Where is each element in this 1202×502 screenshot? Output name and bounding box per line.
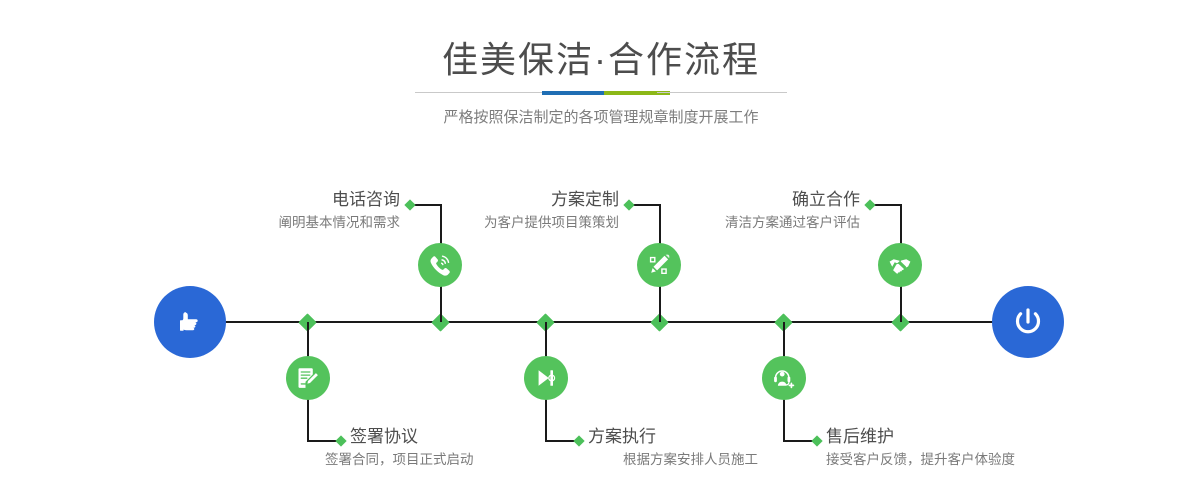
step-6-icon-circle — [878, 243, 922, 287]
step-2-title: 电话咨询 — [175, 188, 400, 212]
step-6-tip-marker — [864, 199, 875, 210]
process-flow-infographic: 佳美保洁·合作流程 严格按照保洁制定的各项管理规章制度开展工作 — [0, 0, 1202, 502]
handshake-icon — [887, 252, 913, 278]
divider-gray-left — [415, 92, 545, 93]
document-edit-icon — [295, 365, 321, 391]
step-3-title: 方案执行 — [588, 425, 838, 449]
title-divider — [415, 91, 787, 95]
step-5-icon-circle — [762, 356, 806, 400]
step-1-title: 签署协议 — [350, 425, 600, 449]
step-4-icon-circle — [637, 243, 681, 287]
hand-pointing-icon — [171, 303, 209, 341]
step-1-icon-circle — [286, 356, 330, 400]
step-4-title: 方案定制 — [395, 188, 619, 212]
step-6-subtitle: 清洁方案通过客户评估 — [610, 213, 860, 233]
divider-blue-segment — [542, 91, 604, 95]
step-1-subtitle: 签署合同，项目正式启动 — [325, 450, 605, 470]
power-icon — [1008, 302, 1048, 342]
page-subtitle: 严格按照保洁制定的各项管理规章制度开展工作 — [0, 107, 1202, 129]
step-6-title: 确立合作 — [640, 188, 860, 212]
step-1-tip-marker — [335, 435, 346, 446]
step-3-icon-circle — [524, 356, 568, 400]
divider-gray-right — [657, 92, 787, 93]
timeline-axis — [155, 321, 1045, 323]
phone-call-icon — [427, 252, 453, 278]
timeline-start-endpoint — [154, 286, 226, 358]
customer-service-icon — [771, 365, 797, 391]
step-5-title: 售后维护 — [826, 425, 1076, 449]
page-title: 佳美保洁·合作流程 — [0, 38, 1202, 82]
pencil-plan-icon — [646, 252, 672, 278]
play-execute-icon — [533, 365, 559, 391]
step-4-subtitle: 为客户提供项目策策划 — [365, 213, 619, 233]
step-5-subtitle: 接受客户反馈，提升客户体验度 — [826, 450, 1116, 470]
timeline-end-endpoint — [992, 286, 1064, 358]
step-2-subtitle: 阐明基本情况和需求 — [145, 213, 400, 233]
step-4-tip-marker — [623, 199, 634, 210]
step-2-icon-circle — [418, 243, 462, 287]
